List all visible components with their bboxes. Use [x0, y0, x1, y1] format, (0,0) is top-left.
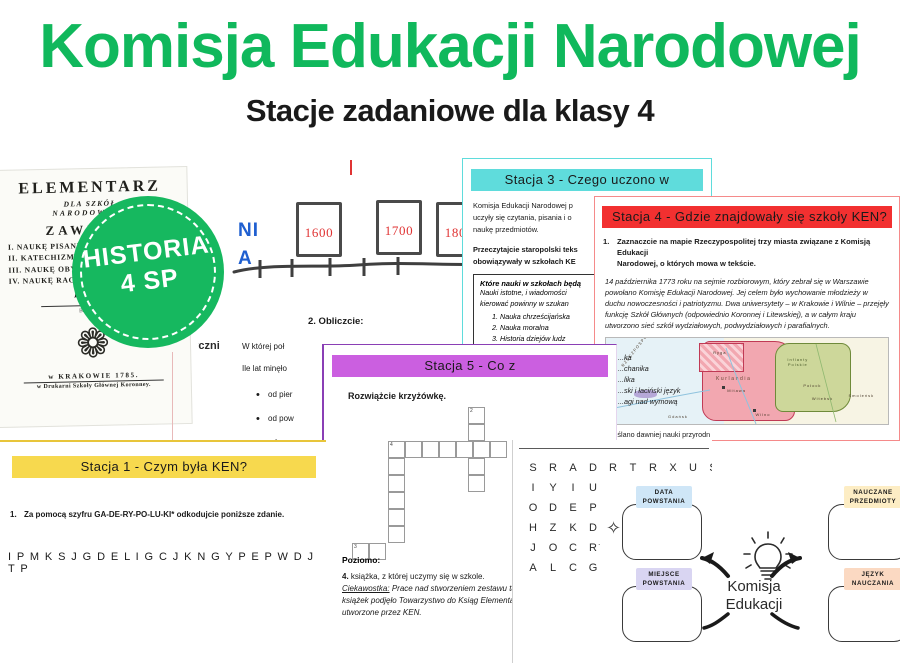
- timeline-left-word: ryczni: [198, 340, 220, 352]
- ws-letter: C: [563, 538, 583, 558]
- stacja-1-header: Stacja 1 - Czym była KEN?: [12, 456, 316, 478]
- poster-canvas: Komisja Edukacji Narodowej Stacje zadani…: [0, 0, 900, 663]
- ws-letter: L: [543, 558, 563, 578]
- ws-letter: J: [523, 538, 543, 558]
- mindmap-tag-nauczane-przedmioty: NAUCZANE PRZEDMIOTY: [844, 486, 900, 508]
- tail-item: ...chanika: [618, 363, 708, 374]
- question-text: Za pomocą szyfru GA-DE-RY-PO-LU-KI* odko…: [24, 510, 284, 519]
- mindmap-box-jezyk-nauczania[interactable]: [828, 586, 900, 642]
- curiosity-label: Ciekawostka:: [342, 584, 390, 593]
- tail-item: ...ka: [618, 352, 708, 363]
- timeline-line-b: Ile lat minęło: [242, 364, 287, 373]
- ws-letter: U: [683, 458, 703, 478]
- ws-letter: S: [523, 458, 543, 478]
- stacja-5-instruction: Rozwiążcie krzyżówkę.: [348, 391, 616, 401]
- clue-number: 4.: [342, 572, 349, 581]
- ws-letter: C: [563, 558, 583, 578]
- ws-letter: X: [663, 458, 683, 478]
- ws-letter: I: [523, 478, 543, 498]
- tail-item: ...agi nad wymową: [618, 396, 708, 407]
- year-box-1600: 1600: [296, 202, 342, 257]
- clue-text: książka, z której uczymy się w szkole.: [351, 572, 485, 581]
- stacja-1-cipher-text: I P M K S J G D E L I G C J K N G Y P E …: [8, 551, 326, 575]
- historia-badge: HISTORIA 4 SP: [72, 196, 224, 348]
- ws-letter: H: [523, 518, 543, 538]
- page-title: Komisja Edukacji Narodowej: [0, 14, 900, 80]
- stacja-4-header: Stacja 4 - Gdzie znajdowały się szkoły K…: [602, 206, 892, 228]
- stacja-4-footnote: ...reślano dawniej nauki przyrodn: [605, 430, 889, 439]
- stacja-1-card: Stacja 1 - Czym była KEN? 1. Za pomocą s…: [0, 440, 326, 663]
- stacja-3-tail-list: ...ka ...chanika ...lika ...ski i łacińs…: [618, 352, 708, 407]
- question-line-1: Zaznaczcie na mapie Rzeczypospolitej trz…: [617, 237, 870, 257]
- ws-letter: A: [523, 558, 543, 578]
- ws-letter: S: [703, 458, 712, 478]
- wordsearch-row: S R A D R T R X U S: [523, 458, 712, 478]
- ws-letter: K: [563, 518, 583, 538]
- page-subtitle: Stacje zadaniowe dla klasy 4: [0, 94, 900, 128]
- thin-guide-line: [172, 352, 173, 440]
- center-line-2: Edukacji: [708, 596, 800, 614]
- stacja-5-header: Stacja 5 - Co z: [332, 355, 608, 377]
- timeline-line-a: W której poł: [242, 342, 284, 351]
- mindmap-box-data-powstania[interactable]: [622, 504, 702, 560]
- question-number: 1.: [10, 510, 17, 519]
- ws-letter: T: [623, 458, 643, 478]
- ws-letter: R: [543, 458, 563, 478]
- mindmap-center-label: Komisja Edukacji: [708, 578, 800, 614]
- ws-letter: E: [563, 498, 583, 518]
- mindmap-tag-miejsce-powstania: MIEJSCE POWSTANIA: [636, 568, 692, 590]
- timeline-question-2: 2. Obliczcie:: [308, 316, 363, 327]
- mindmap-box-miejsce-powstania[interactable]: [622, 586, 702, 642]
- ws-letter: Z: [543, 518, 563, 538]
- year-label: 1600: [299, 225, 339, 241]
- stacja-1-question: 1. Za pomocą szyfru GA-DE-RY-PO-LU-KI* o…: [24, 510, 312, 519]
- ws-letter: O: [523, 498, 543, 518]
- ws-letter: I: [563, 478, 583, 498]
- ws-letter: O: [543, 538, 563, 558]
- mindmap-box-nauczane-przedmioty[interactable]: [828, 504, 900, 560]
- stacja-4-question: 1. Zaznaczcie na mapie Rzeczypospolitej …: [617, 236, 887, 269]
- ws-letter: R: [603, 458, 623, 478]
- stacja-3-header: Stacja 3 - Czego uczono w: [471, 169, 703, 191]
- stacja-5-poziomo-label: Poziomo:: [342, 555, 380, 565]
- tail-item: ...lika: [618, 374, 708, 385]
- ws-letter: D: [583, 458, 603, 478]
- mindmap-worksheet: ✧ DATA POWSTANIA MIEJSCE POWSTANIA NAUCZ…: [600, 478, 900, 663]
- question-line-2: Narodowej, o których mowa w tekście.: [617, 259, 756, 268]
- mindmap-tag-data-powstania: DATA POWSTANIA: [636, 486, 692, 508]
- ws-letter: Y: [543, 478, 563, 498]
- red-tick-mark: [350, 160, 352, 175]
- mindmap-tag-jezyk-nauczania: JĘZYK NAUCZANIA: [844, 568, 900, 590]
- year-box-1700: 1700: [376, 200, 422, 255]
- sparkle-icon: ✧: [606, 518, 621, 539]
- year-label: 1700: [379, 223, 419, 239]
- timeline-bullet: od pow: [268, 414, 294, 423]
- tail-item: ...ski i łaciński język: [618, 385, 708, 396]
- center-line-1: Komisja: [708, 578, 800, 596]
- timeline-bullet: od pier: [268, 390, 292, 399]
- divider: [519, 448, 709, 449]
- ws-letter: D: [543, 498, 563, 518]
- hidden-blue-text-1: NI: [238, 220, 259, 242]
- ws-letter: R: [643, 458, 663, 478]
- question-number: 1.: [603, 236, 609, 247]
- stacja-4-body-text: 14 października 1773 roku na sejmie rozb…: [605, 276, 889, 331]
- ws-letter: A: [563, 458, 583, 478]
